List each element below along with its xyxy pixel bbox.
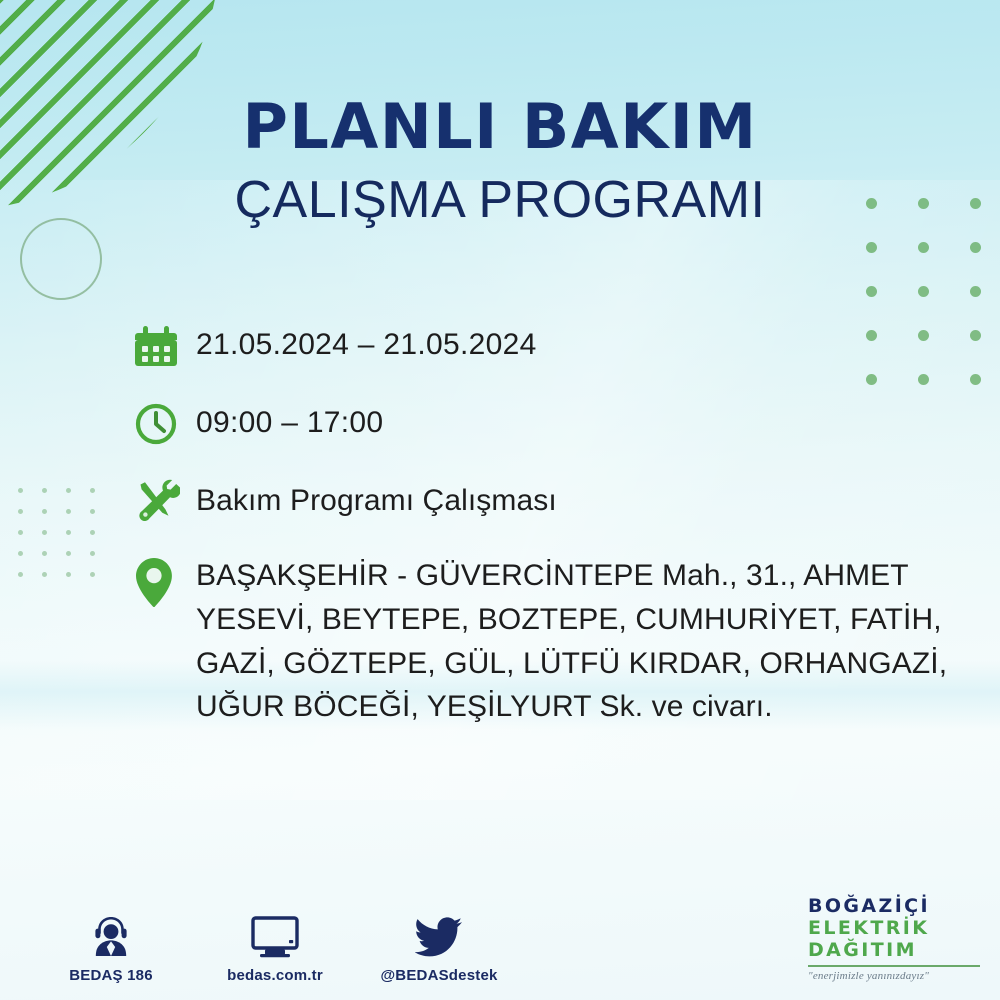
time-range-value: 09:00 – 17:00 (196, 396, 383, 445)
contact-website-label: bedas.com.tr (216, 967, 334, 984)
calendar-icon (134, 318, 196, 374)
poster-header: PLANLI BAKIM ÇALIŞMA PROGRAMI (0, 96, 1000, 226)
contact-channels: BEDAŞ 186 bedas.com.tr (52, 910, 498, 984)
work-type-value: Bakım Programı Çalışması (196, 474, 557, 523)
contact-website[interactable]: bedas.com.tr (216, 910, 334, 984)
brand-tagline: "enerjimizle yanınızdayız" (808, 970, 980, 982)
date-range-value: 21.05.2024 – 21.05.2024 (196, 318, 537, 367)
page-title: PLANLI BAKIM (0, 96, 1000, 158)
location-value: BAŞAKŞEHİR - GÜVERCİNTEPE Mah., 31., AHM… (196, 552, 954, 729)
map-pin-icon (134, 552, 196, 614)
brand-line-dagitim: DAĞITIM (808, 939, 980, 961)
detail-row-time: 09:00 – 17:00 (134, 396, 954, 452)
detail-row-date: 21.05.2024 – 21.05.2024 (134, 318, 954, 374)
twitter-bird-icon (380, 910, 498, 958)
detail-row-location: BAŞAKŞEHİR - GÜVERCİNTEPE Mah., 31., AHM… (134, 552, 954, 729)
brand-line-elektrik: ELEKTRİK (808, 917, 980, 939)
contact-twitter-label: @BEDASdestek (380, 967, 498, 984)
brand-divider (808, 965, 980, 967)
bedas-logo: BOĞAZİÇİ ELEKTRİK DAĞITIM "enerjimizle y… (808, 895, 980, 982)
monitor-icon (216, 910, 334, 958)
dot-grid-left-decoration (18, 488, 114, 593)
contact-phone-label: BEDAŞ 186 (52, 967, 170, 984)
page-subtitle: ÇALIŞMA PROGRAMI (0, 174, 1000, 226)
tools-icon (134, 474, 196, 530)
planned-maintenance-poster: PLANLI BAKIM ÇALIŞMA PROGRAMI (0, 0, 1000, 1000)
poster-footer: BEDAŞ 186 bedas.com.tr (0, 880, 1000, 1000)
contact-phone[interactable]: BEDAŞ 186 (52, 910, 170, 984)
support-agent-icon (52, 910, 170, 958)
maintenance-details: 21.05.2024 – 21.05.2024 09:00 – 17:00 (134, 318, 954, 729)
detail-row-work-type: Bakım Programı Çalışması (134, 474, 954, 530)
contact-twitter[interactable]: @BEDASdestek (380, 910, 498, 984)
circle-outline-decoration (20, 218, 102, 300)
brand-line-bogazici: BOĞAZİÇİ (808, 895, 980, 917)
clock-icon (134, 396, 196, 452)
